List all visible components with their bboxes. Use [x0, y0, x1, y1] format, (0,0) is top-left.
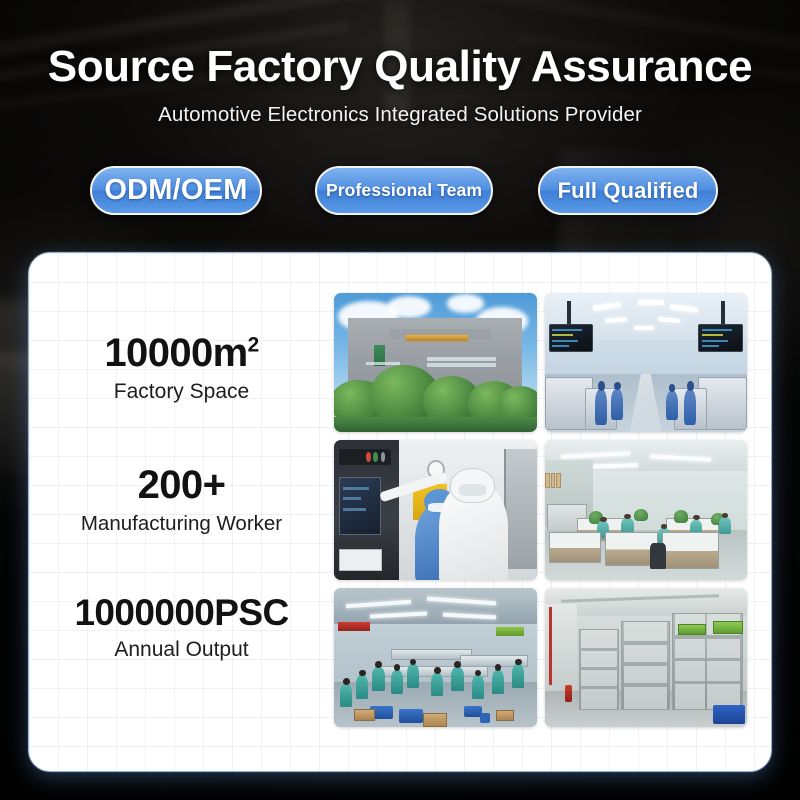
stat-annual-output: 1000000PSC Annual Output: [29, 594, 334, 663]
page-title: Source Factory Quality Assurance: [0, 42, 800, 92]
badge-professional-team[interactable]: Professional Team: [315, 166, 493, 215]
stat-label: Annual Output: [29, 638, 334, 662]
photo-cleanroom-inspection[interactable]: [334, 440, 537, 579]
stat-label: Manufacturing Worker: [29, 512, 334, 536]
line-monitor: [698, 324, 743, 352]
worker-white-suit: [439, 482, 508, 580]
badge-odm-oem[interactable]: ODM/OEM: [90, 166, 262, 215]
content-card: 10000m2 Factory Space 200+ Manufacturing…: [28, 252, 772, 772]
stat-manufacturing-worker: 200+ Manufacturing Worker: [29, 464, 334, 536]
stat-label: Factory Space: [29, 380, 334, 404]
header: Source Factory Quality Assurance Automot…: [0, 0, 800, 127]
control-panel: [334, 440, 399, 579]
stat-value: 10000m2: [29, 332, 334, 374]
zestech-sign: [406, 335, 469, 342]
line-monitor: [549, 324, 594, 352]
office-chair: [650, 543, 666, 568]
stat-factory-space: 10000m2 Factory Space: [29, 332, 334, 404]
badge-full-qualified[interactable]: Full Qualified: [538, 166, 718, 215]
page-subtitle: Automotive Electronics Integrated Soluti…: [0, 103, 800, 127]
stat-value: 200+: [29, 464, 334, 506]
photo-warehouse-storage-racks[interactable]: [545, 588, 748, 727]
storage-rack: [579, 629, 620, 710]
photo-office-workspace[interactable]: [545, 440, 748, 579]
stat-value: 1000000PSC: [29, 594, 334, 633]
stats-column: 10000m2 Factory Space 200+ Manufacturing…: [29, 253, 334, 771]
photo-factory-building-exterior[interactable]: [334, 293, 537, 432]
photo-assembly-line-workers[interactable]: [334, 588, 537, 727]
photo-grid: [334, 253, 771, 771]
stat-unit-superscript: 2: [248, 333, 259, 356]
badge-row: ODM/OEM Professional Team Full Qualified: [0, 166, 800, 218]
fire-extinguisher: [565, 685, 572, 702]
blue-storage-bin: [713, 705, 745, 725]
photo-smt-production-line[interactable]: [545, 293, 748, 432]
storage-rack: [621, 621, 670, 710]
rack-label-sign: [713, 621, 743, 634]
rack-label-sign: [678, 624, 706, 635]
